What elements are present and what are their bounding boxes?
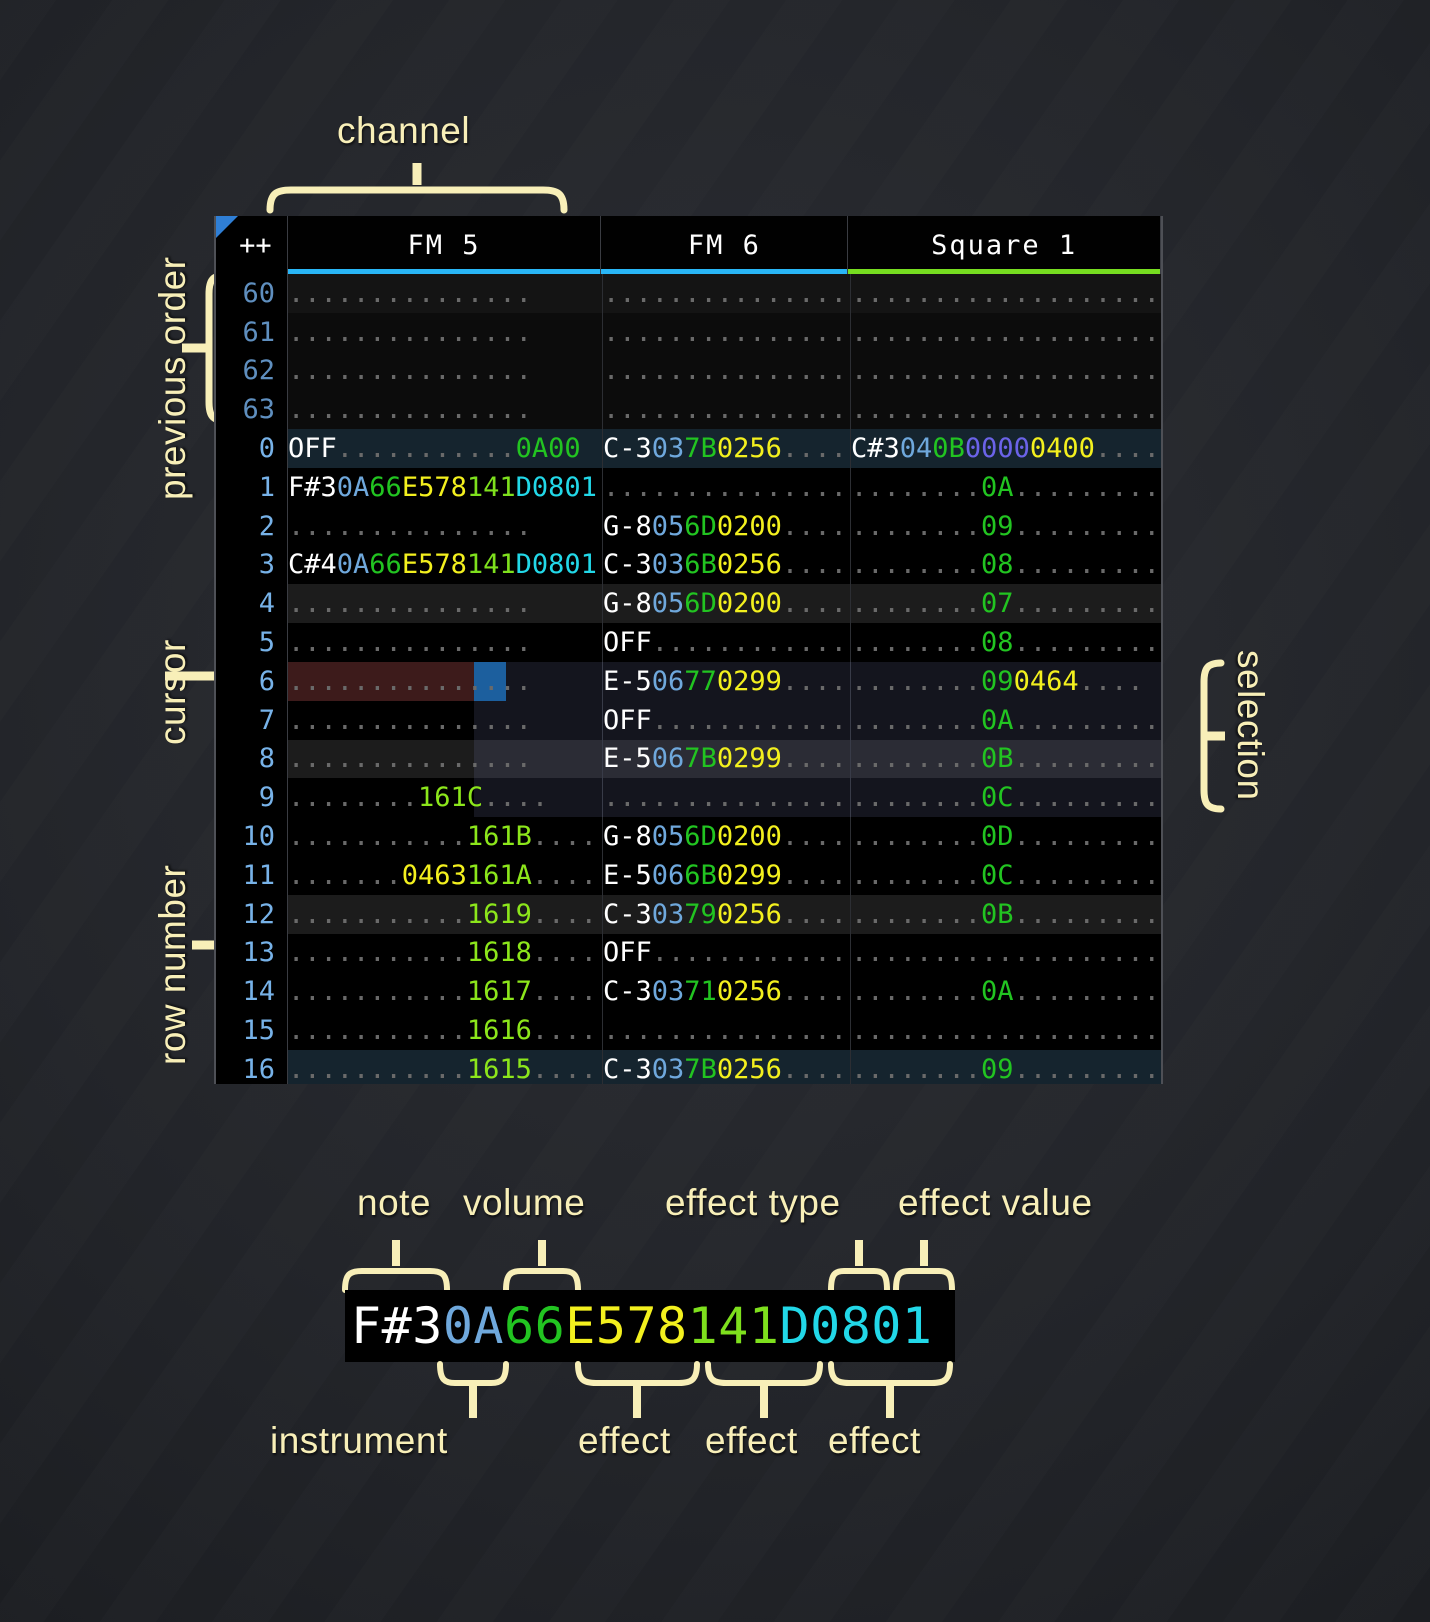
cell-segment: 141	[467, 472, 516, 503]
cell-segment: 66	[369, 549, 402, 580]
pattern-cell-fm5[interactable]: ...........1615....	[288, 1050, 603, 1084]
cell-segment: ....	[782, 588, 847, 619]
legend-segment: D0801	[779, 1297, 932, 1355]
row-cells[interactable]: ...............G-8056D0200............09…	[288, 507, 1163, 546]
pattern-row[interactable]: 7...............OFF....................0…	[216, 701, 1161, 740]
pattern-cell-fm6[interactable]: C-3037B0256....	[603, 1050, 851, 1084]
annotation-effect-b: effect	[705, 1420, 798, 1462]
cell-segment: 0299	[717, 860, 782, 891]
cell-segment: 09	[981, 666, 1014, 697]
cell-segment: 0299	[717, 666, 782, 697]
cell-segment: ....	[467, 278, 532, 309]
channel-header-label: FM 5	[408, 230, 481, 261]
pattern-cell-fm5[interactable]: ...............	[288, 662, 603, 701]
pattern-cell-fm5[interactable]: .......0463161A....	[288, 856, 603, 895]
annotation-selection: selection	[1229, 650, 1271, 801]
pattern-cell-fm6[interactable]: C-303790256....	[603, 895, 851, 934]
row-cells[interactable]: ...............E-5067B0299............0B…	[288, 740, 1163, 779]
cell-segment: ...........	[288, 1015, 467, 1046]
cell-segment: 0464	[1014, 666, 1079, 697]
row-cells[interactable]: ...........1616.........................…	[288, 1011, 1163, 1050]
pattern-cell-fm6[interactable]: E-5066B0299....	[603, 856, 851, 895]
pattern-row[interactable]: 13...........1618....OFF................…	[216, 934, 1161, 973]
corner-triangle-icon	[216, 216, 238, 238]
cell-segment: 0256	[717, 1054, 782, 1084]
cell-segment: ...........	[337, 433, 516, 464]
pattern-cell-fm5[interactable]: ...........1617....	[288, 972, 603, 1011]
cell-segment: F#3	[288, 472, 337, 503]
cell-segment: 0200	[717, 511, 782, 542]
cell-segment: ...........	[288, 821, 467, 852]
cell-segment: D0801	[516, 472, 597, 503]
pattern-cell-fm5[interactable]: OFF...........0A00	[288, 429, 603, 468]
cell-segment: .......	[288, 860, 402, 891]
pattern-cell-square1[interactable]: ........09..........	[851, 507, 1163, 546]
pattern-cell-fm5[interactable]: ...............	[288, 390, 603, 429]
cell-segment: 0A	[981, 976, 1014, 1007]
cell-segment: ...................	[851, 278, 1160, 309]
legend-segment: 0A	[443, 1297, 504, 1355]
channel-header-square1[interactable]: Square 1	[848, 216, 1161, 274]
pattern-row[interactable]: 8...............E-5067B0299............0…	[216, 740, 1161, 779]
cell-segment: ...................	[851, 317, 1160, 348]
row-cells[interactable]: ........................................…	[288, 390, 1163, 429]
cell-segment: ...................	[851, 1015, 1160, 1046]
cell-segment: C-3	[603, 976, 652, 1007]
cell-segment: ........	[851, 1054, 981, 1084]
pattern-cell-square1[interactable]: ........07..........	[851, 584, 1163, 623]
row-number: 6	[216, 662, 288, 701]
cell-segment: 0A	[337, 472, 370, 503]
cell-segment: ...........	[288, 899, 467, 930]
legend-segment: 141	[688, 1297, 780, 1355]
cell-segment: ........	[288, 782, 418, 813]
pattern-cell-square1[interactable]: ...................	[851, 934, 1163, 973]
pattern-cell-fm5[interactable]: ...........161B....	[288, 817, 603, 856]
legend-segment: 66	[504, 1297, 565, 1355]
cell-segment: ........	[851, 782, 981, 813]
cell-segment: 0463	[402, 860, 467, 891]
cell-segment: ....	[782, 976, 847, 1007]
cell-segment: 03	[652, 976, 685, 1007]
cell-segment: 0400	[1030, 433, 1095, 464]
row-cells[interactable]: OFF...........0A00C-3037B0256....C#3040B…	[288, 429, 1163, 468]
pattern-cell-fm6[interactable]: G-8056D0200....	[603, 817, 851, 856]
cell-segment: ....	[782, 433, 847, 464]
pattern-row[interactable]: 61......................................…	[216, 313, 1161, 352]
annotation-effect-c: effect	[828, 1420, 921, 1462]
row-cells[interactable]: ...........1619....C-303790256..........…	[288, 895, 1163, 934]
cell-segment: C#3	[851, 433, 900, 464]
annotation-effect-type: effect type	[665, 1182, 841, 1224]
cell-segment: G-8	[603, 588, 652, 619]
cell-segment: ...............	[288, 705, 532, 736]
cell-segment: E578	[402, 549, 467, 580]
cell-segment: 03	[652, 549, 685, 580]
cell-segment: ...............	[288, 588, 532, 619]
cell-segment: 0A	[981, 472, 1014, 503]
row-number: 11	[216, 856, 288, 895]
cell-segment: ....	[782, 666, 847, 697]
cell-segment: ....	[532, 976, 597, 1007]
row-cells[interactable]: .......0463161A....E-5066B0299..........…	[288, 856, 1163, 895]
row-number: 0	[216, 429, 288, 468]
pattern-cell-square1[interactable]: ...................	[851, 352, 1163, 391]
cell-segment: B	[949, 433, 965, 464]
row-cells[interactable]: ...............G-8056D0200............07…	[288, 584, 1163, 623]
cell-segment: ..........	[1014, 976, 1163, 1007]
pattern-cell-square1[interactable]: ........09..........	[851, 1050, 1163, 1084]
cell-segment: 79	[684, 899, 717, 930]
pattern-cell-square1[interactable]: ........08..........	[851, 546, 1163, 585]
order-increment-corner[interactable]: ++	[216, 216, 288, 274]
row-cells[interactable]: ...........1615....C-3037B0256..........…	[288, 1050, 1163, 1084]
cell-segment: 6	[684, 821, 700, 852]
cell-segment: ...................	[851, 937, 1160, 968]
cell-segment: ...............	[603, 1015, 847, 1046]
pattern-cell-square1[interactable]: ........0A..........	[851, 468, 1163, 507]
cell-segment: 0256	[717, 433, 782, 464]
row-number: 62	[216, 352, 288, 391]
cell-segment: 0200	[717, 588, 782, 619]
pattern-cell-fm5[interactable]: ........161C....	[288, 778, 603, 817]
cell-segment: 77	[684, 666, 717, 697]
cell-segment: ...............	[603, 394, 847, 425]
cell-segment: ....	[483, 782, 548, 813]
pattern-cell-fm6[interactable]: ...............	[603, 274, 851, 313]
pattern-cell-square1[interactable]: ........0B..........	[851, 895, 1163, 934]
pattern-cell-fm5[interactable]: ...............	[288, 313, 603, 352]
row-cells[interactable]: ........................................…	[288, 352, 1163, 391]
cell-segment: ....	[532, 1054, 597, 1084]
cell-segment: OFF	[603, 705, 652, 736]
cell-segment: E-5	[603, 743, 652, 774]
pattern-grid[interactable]: 60......................................…	[216, 274, 1161, 1084]
effect-b-brace	[705, 1362, 823, 1420]
cell-segment: 0C	[981, 782, 1014, 813]
cell-segment: ....	[532, 1015, 597, 1046]
pattern-cell-fm6[interactable]: ...............	[603, 390, 851, 429]
pattern-cell-fm5[interactable]: ...........1616....	[288, 1011, 603, 1050]
pattern-cell-fm5[interactable]: C#40A66E578141D0801	[288, 546, 603, 585]
row-cells[interactable]: ...........1618....OFF..................…	[288, 934, 1163, 973]
cell-segment: ...............	[288, 627, 532, 658]
pattern-cell-square1[interactable]: ........090464....	[851, 662, 1163, 701]
cell-segment: C-3	[603, 549, 652, 580]
cell-segment: 1616	[467, 1015, 532, 1046]
pattern-cell-square1[interactable]: ........0C..........	[851, 778, 1163, 817]
pattern-row[interactable]: 63......................................…	[216, 390, 1161, 429]
pattern-cell-fm6[interactable]: ...............	[603, 313, 851, 352]
cell-segment: 04	[900, 433, 933, 464]
cell-segment: G-8	[603, 511, 652, 542]
cell-segment: ....	[782, 899, 847, 930]
cell-segment: ..........	[1014, 549, 1163, 580]
cell-segment: C-3	[603, 1054, 652, 1084]
pattern-row[interactable]: 11.......0463161A....E-5066B0299........…	[216, 856, 1161, 895]
cell-segment: ....	[532, 937, 597, 968]
cell-segment: ...............	[288, 317, 532, 348]
row-number: 1	[216, 468, 288, 507]
cell-segment: ...............	[288, 743, 532, 774]
cell-segment: ....	[1095, 433, 1160, 464]
pattern-row[interactable]: 9........161C...........................…	[216, 778, 1161, 817]
cell-segment: 00	[997, 433, 1030, 464]
cell-segment: C-3	[603, 899, 652, 930]
pattern-cell-square1[interactable]: ...................	[851, 313, 1163, 352]
cell-segment: ....	[782, 1054, 847, 1084]
cell-segment: 0B	[981, 899, 1014, 930]
cell-segment: D	[701, 588, 717, 619]
cell-segment: ............	[652, 705, 847, 736]
pattern-cell-fm5[interactable]: ...............	[288, 701, 603, 740]
cell-segment: 161B	[467, 821, 532, 852]
pattern-row[interactable]: 1F#30A66E578141D0801....................…	[216, 468, 1161, 507]
cell-segment: ........	[851, 821, 981, 852]
pattern-cell-square1[interactable]: ........08..........	[851, 623, 1163, 662]
annotation-channel: channel	[337, 110, 470, 152]
cell-segment: 6	[684, 549, 700, 580]
row-cells[interactable]: F#30A66E578141D0801.....................…	[288, 468, 1163, 507]
row-number: 14	[216, 972, 288, 1011]
cell-segment: ...........	[288, 937, 467, 968]
cell-segment: 1617	[467, 976, 532, 1007]
row-number: 60	[216, 274, 288, 313]
pattern-cell-fm6[interactable]: ...............	[603, 468, 851, 507]
cell-segment: ..........	[1014, 860, 1163, 891]
cell-segment: 08	[981, 549, 1014, 580]
cell-segment: B	[701, 743, 717, 774]
row-number: 15	[216, 1011, 288, 1050]
cell-segment: ........	[851, 588, 981, 619]
pattern-cell-fm6[interactable]: ...............	[603, 778, 851, 817]
cell-segment: D	[701, 821, 717, 852]
pattern-cell-fm6[interactable]: C-3036B0256....	[603, 546, 851, 585]
cell-segment: 1615	[467, 1054, 532, 1084]
tracker-pattern-panel[interactable]: ++ FM 5 FM 6 Square 1 60................…	[214, 216, 1163, 1084]
cell-segment: 6	[684, 588, 700, 619]
cell-segment: ........	[851, 976, 981, 1007]
pattern-row[interactable]: 10...........161B....G-8056D0200........…	[216, 817, 1161, 856]
cell-segment: 141	[467, 549, 516, 580]
pattern-cell-fm6[interactable]: C-303710256....	[603, 972, 851, 1011]
cell-segment: C#4	[288, 549, 337, 580]
cell-segment: OFF	[603, 937, 652, 968]
pattern-row[interactable]: 5...............OFF....................0…	[216, 623, 1161, 662]
pattern-cell-fm5[interactable]: ...........1619....	[288, 895, 603, 934]
cell-segment: ........	[851, 549, 981, 580]
pattern-cell-square1[interactable]: ........0A..........	[851, 701, 1163, 740]
annotation-instrument: instrument	[270, 1420, 448, 1462]
cell-segment: C-3	[603, 433, 652, 464]
row-cells[interactable]: C#40A66E578141D0801C-3036B0256..........…	[288, 546, 1163, 585]
annotation-note: note	[357, 1182, 431, 1224]
pattern-cell-fm6[interactable]: OFF............	[603, 623, 851, 662]
cell-segment: ........	[851, 743, 981, 774]
row-cells[interactable]: ...............OFF....................0A…	[288, 701, 1163, 740]
cell-segment: ..........	[1014, 511, 1163, 542]
pattern-row[interactable]: 12...........1619....C-303790256........…	[216, 895, 1161, 934]
cell-segment: ...............	[288, 666, 532, 697]
pattern-cell-square1[interactable]: ........0A..........	[851, 972, 1163, 1011]
row-number: 9	[216, 778, 288, 817]
cell-segment: ..........	[1014, 821, 1163, 852]
cell-segment: ........	[851, 472, 981, 503]
pattern-cell-square1[interactable]: ...................	[851, 390, 1163, 429]
pattern-row[interactable]: 14...........1617....C-303710256........…	[216, 972, 1161, 1011]
pattern-row[interactable]: 3C#40A66E578141D0801C-3036B0256.........…	[216, 546, 1161, 585]
cell-segment: 09	[981, 511, 1014, 542]
cell-segment: ....	[782, 511, 847, 542]
legend-segment: F#3	[351, 1297, 443, 1355]
cell-segment: 05	[652, 821, 685, 852]
row-number: 12	[216, 895, 288, 934]
cell-segment: 0B	[981, 743, 1014, 774]
cell-segment: ....	[782, 743, 847, 774]
cell-segment: B	[701, 1054, 717, 1084]
pattern-cell-fm6[interactable]: OFF............	[603, 701, 851, 740]
cell-segment: 09	[981, 1054, 1014, 1084]
pattern-row[interactable]: 60......................................…	[216, 274, 1161, 313]
cell-segment: E-5	[603, 666, 652, 697]
cell-segment: 6	[684, 511, 700, 542]
pattern-cell-fm5[interactable]: ...............	[288, 507, 603, 546]
row-number: 7	[216, 701, 288, 740]
effect-a-brace	[575, 1362, 700, 1420]
cell-segment: 0A	[337, 549, 370, 580]
cell-segment: ...................	[851, 394, 1160, 425]
pattern-row[interactable]: 15...........1616.......................…	[216, 1011, 1161, 1050]
pattern-cell-fm6[interactable]: C-3037B0256....	[603, 429, 851, 468]
pattern-cell-square1[interactable]: ........0C..........	[851, 856, 1163, 895]
cell-segment: B	[701, 433, 717, 464]
cell-segment: ...............	[603, 355, 847, 386]
pattern-cell-fm6[interactable]: G-8056D0200....	[603, 507, 851, 546]
pattern-cell-square1[interactable]: C#3040B00000400....	[851, 429, 1163, 468]
pattern-row[interactable]: 0OFF...........0A00C-3037B0256....C#3040…	[216, 429, 1161, 468]
pattern-cell-fm6[interactable]: ...............	[603, 1011, 851, 1050]
cell-segment: ..........	[1014, 705, 1163, 736]
pattern-cell-square1[interactable]: ...................	[851, 1011, 1163, 1050]
pattern-cell-fm5[interactable]: ...........1618....	[288, 934, 603, 973]
pattern-cell-fm5[interactable]: F#30A66E578141D0801	[288, 468, 603, 507]
cell-segment: ...........	[288, 278, 467, 309]
cell-segment: 03	[652, 899, 685, 930]
row-cells[interactable]: ........161C...........................0…	[288, 778, 1163, 817]
row-cells[interactable]: ...........1617....C-303710256..........…	[288, 972, 1163, 1011]
pattern-cell-square1[interactable]: ........0B..........	[851, 740, 1163, 779]
pattern-cell-fm5[interactable]: ...............	[288, 584, 603, 623]
cell-segment: D	[701, 511, 717, 542]
cell-segment: B	[701, 860, 717, 891]
cell-segment: ....	[782, 821, 847, 852]
cell-segment: 6	[684, 860, 700, 891]
pattern-cell-fm5[interactable]: ...............	[288, 274, 603, 313]
pattern-cell-fm5[interactable]: ...............	[288, 740, 603, 779]
cell-segment: ..........	[1014, 1054, 1163, 1084]
legend-pattern-row: F#30A66E578141D0801	[345, 1290, 955, 1362]
cell-segment: E-5	[603, 860, 652, 891]
cell-segment: ........	[851, 666, 981, 697]
row-number: 61	[216, 313, 288, 352]
pattern-row[interactable]: 16...........1615....C-3037B0256........…	[216, 1050, 1161, 1084]
cell-segment: 0A00	[516, 433, 581, 464]
pattern-cell-fm6[interactable]: ...............	[603, 352, 851, 391]
cell-segment: OFF	[603, 627, 652, 658]
pattern-cell-fm6[interactable]: OFF............	[603, 934, 851, 973]
pattern-row[interactable]: 6...............E-506770299............0…	[216, 662, 1161, 701]
row-cells[interactable]: ........................................…	[288, 274, 1163, 313]
row-number: 3	[216, 546, 288, 585]
pattern-cell-fm6[interactable]: E-5067B0299....	[603, 740, 851, 779]
cell-segment: ........	[851, 899, 981, 930]
pattern-cell-fm5[interactable]: ...............	[288, 623, 603, 662]
row-number: 63	[216, 390, 288, 429]
cell-segment: G-8	[603, 821, 652, 852]
row-cells[interactable]: ........................................…	[288, 313, 1163, 352]
pattern-cell-fm6[interactable]: G-8056D0200....	[603, 584, 851, 623]
pattern-row[interactable]: 2...............G-8056D0200............0…	[216, 507, 1161, 546]
row-number: 2	[216, 507, 288, 546]
pattern-cell-square1[interactable]: ........0D..........	[851, 817, 1163, 856]
row-number: 16	[216, 1050, 288, 1084]
cell-segment: 03	[652, 433, 685, 464]
cell-segment: 06	[652, 666, 685, 697]
cell-segment: ..........	[1014, 627, 1163, 658]
cell-segment: ...............	[603, 278, 847, 309]
cell-segment: ............	[652, 627, 847, 658]
cell-segment: ...............	[603, 782, 847, 813]
pattern-cell-fm6[interactable]: E-506770299....	[603, 662, 851, 701]
selection-brace	[1177, 660, 1225, 812]
cell-segment: ...............	[603, 317, 847, 348]
cell-segment: 0256	[717, 549, 782, 580]
effect-value-brace	[893, 1240, 955, 1292]
cell-segment: 7	[684, 1054, 700, 1084]
cell-segment: D0801	[516, 549, 597, 580]
cell-segment: 1619	[467, 899, 532, 930]
cell-segment: 161C	[418, 782, 483, 813]
cell-segment: 07	[981, 588, 1014, 619]
cell-segment: ....	[1079, 666, 1144, 697]
pattern-cell-fm5[interactable]: ...............	[288, 352, 603, 391]
cell-segment: OFF	[288, 433, 337, 464]
annotation-cursor: cursor	[152, 639, 194, 745]
cell-segment: ..........	[1014, 782, 1163, 813]
cell-segment: ..........	[1014, 743, 1163, 774]
channel-header-fm5[interactable]: FM 5	[288, 216, 602, 274]
annotation-row-number: row number	[152, 865, 194, 1065]
cell-segment: 06	[652, 860, 685, 891]
channel-header-label: FM 6	[688, 230, 761, 261]
pattern-cell-square1[interactable]: ...................	[851, 274, 1163, 313]
cell-segment: ........	[851, 705, 981, 736]
channel-header-fm6[interactable]: FM 6	[601, 216, 848, 274]
cell-segment: 7	[684, 433, 700, 464]
cell-segment: 0C	[981, 860, 1014, 891]
row-number: 8	[216, 740, 288, 779]
cell-segment: 1618	[467, 937, 532, 968]
row-cells[interactable]: ...............E-506770299............09…	[288, 662, 1163, 701]
row-cells[interactable]: ...............OFF....................08…	[288, 623, 1163, 662]
cell-segment: ....	[782, 549, 847, 580]
effect-type-brace	[828, 1240, 890, 1292]
legend-segment: E578	[565, 1297, 687, 1355]
pattern-row[interactable]: 62......................................…	[216, 352, 1161, 391]
cell-segment: ........	[851, 860, 981, 891]
row-cells[interactable]: ...........161B....G-8056D0200..........…	[288, 817, 1163, 856]
pattern-row[interactable]: 4...............G-8056D0200............0…	[216, 584, 1161, 623]
